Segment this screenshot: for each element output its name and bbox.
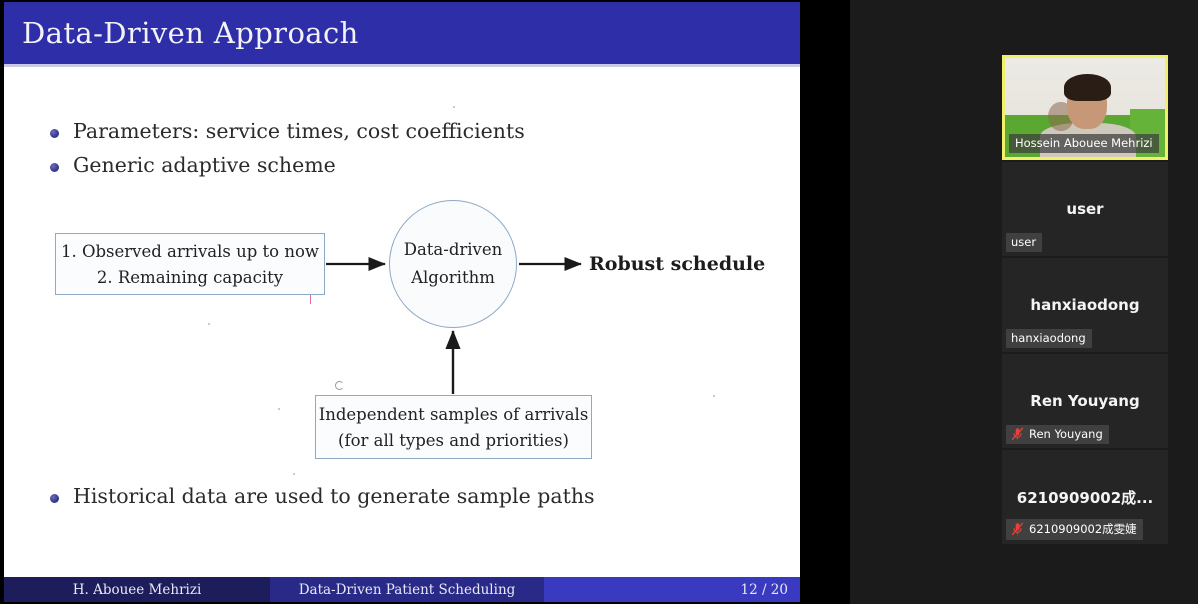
mouse-cursor-artifact bbox=[335, 381, 344, 390]
participant-name-label: Ren Youyang bbox=[1006, 425, 1109, 444]
participant-name-text: 6210909002成雯婕 bbox=[1029, 521, 1137, 537]
participant-name-label: hanxiaodong bbox=[1006, 329, 1092, 348]
microphone-muted-icon bbox=[1011, 427, 1024, 441]
annotation-speck bbox=[293, 473, 295, 475]
participant-name-text: hanxiaodong bbox=[1011, 331, 1086, 345]
diagram-algorithm-line-1: Data-driven bbox=[404, 236, 503, 264]
participant-name-text: user bbox=[1011, 235, 1036, 249]
participant-filmstrip[interactable]: Hossein Abouee Mehrizi user user hanxiao… bbox=[1002, 55, 1168, 545]
video-tile-active-speaker[interactable]: Hossein Abouee Mehrizi bbox=[1002, 55, 1168, 160]
participant-center-name: user bbox=[1066, 200, 1103, 218]
participant-center-name: Ren Youyang bbox=[1030, 392, 1139, 410]
participant-center-name: 6210909002成... bbox=[1017, 487, 1153, 508]
annotation-speck bbox=[208, 323, 210, 325]
diagram-samples-line-2: (for all types and priorities) bbox=[316, 428, 591, 454]
diagram-samples-line-1: Independent samples of arrivals bbox=[316, 402, 591, 428]
speaker-name-label: Hossein Abouee Mehrizi bbox=[1009, 134, 1159, 153]
diagram-input-line-2: 2. Remaining capacity bbox=[56, 265, 324, 291]
participant-name-text: Ren Youyang bbox=[1029, 427, 1103, 441]
footer-subject: Data-Driven Patient Scheduling bbox=[270, 577, 544, 602]
annotation-speck bbox=[713, 395, 715, 397]
video-tile-participant[interactable]: hanxiaodong hanxiaodong bbox=[1002, 258, 1168, 352]
participant-name-label: user bbox=[1006, 233, 1042, 252]
diagram-algorithm-line-2: Algorithm bbox=[411, 264, 495, 292]
annotation-speck bbox=[278, 408, 280, 410]
video-tile-participant[interactable]: 6210909002成... 6210909002成雯婕 bbox=[1002, 450, 1168, 544]
diagram-output-label: Robust schedule bbox=[589, 253, 765, 275]
diagram-algorithm-node: Data-driven Algorithm bbox=[389, 200, 517, 328]
participant-center-name: hanxiaodong bbox=[1030, 296, 1139, 314]
slide-content-area: Parameters: service times, cost coeffici… bbox=[4, 67, 800, 577]
annotation-tick bbox=[310, 295, 311, 304]
footer-author: H. Abouee Mehrizi bbox=[4, 577, 270, 602]
diagram-input-box: 1. Observed arrivals up to now 2. Remain… bbox=[55, 233, 325, 295]
diagram-samples-box: Independent samples of arrivals (for all… bbox=[315, 395, 592, 459]
slide-footer: H. Abouee Mehrizi Data-Driven Patient Sc… bbox=[4, 577, 800, 602]
diagram-arrows bbox=[4, 67, 800, 577]
flow-diagram: 1. Observed arrivals up to now 2. Remain… bbox=[4, 67, 800, 577]
participant-name-label: 6210909002成雯婕 bbox=[1006, 519, 1143, 540]
screen-root: Data-Driven Approach Parameters: service… bbox=[0, 0, 1198, 604]
speaker-hair bbox=[1064, 74, 1110, 101]
slide-title: Data-Driven Approach bbox=[22, 16, 359, 50]
video-tile-participant[interactable]: Ren Youyang Ren Youyang bbox=[1002, 354, 1168, 448]
diagram-input-line-1: 1. Observed arrivals up to now bbox=[56, 239, 324, 265]
shared-screen-stage: Data-Driven Approach Parameters: service… bbox=[0, 0, 800, 604]
microphone-muted-icon bbox=[1011, 522, 1024, 536]
footer-page-number: 12 / 20 bbox=[544, 577, 800, 602]
presentation-slide: Data-Driven Approach Parameters: service… bbox=[4, 2, 800, 602]
video-tile-participant[interactable]: user user bbox=[1002, 162, 1168, 256]
annotation-speck bbox=[453, 106, 455, 108]
